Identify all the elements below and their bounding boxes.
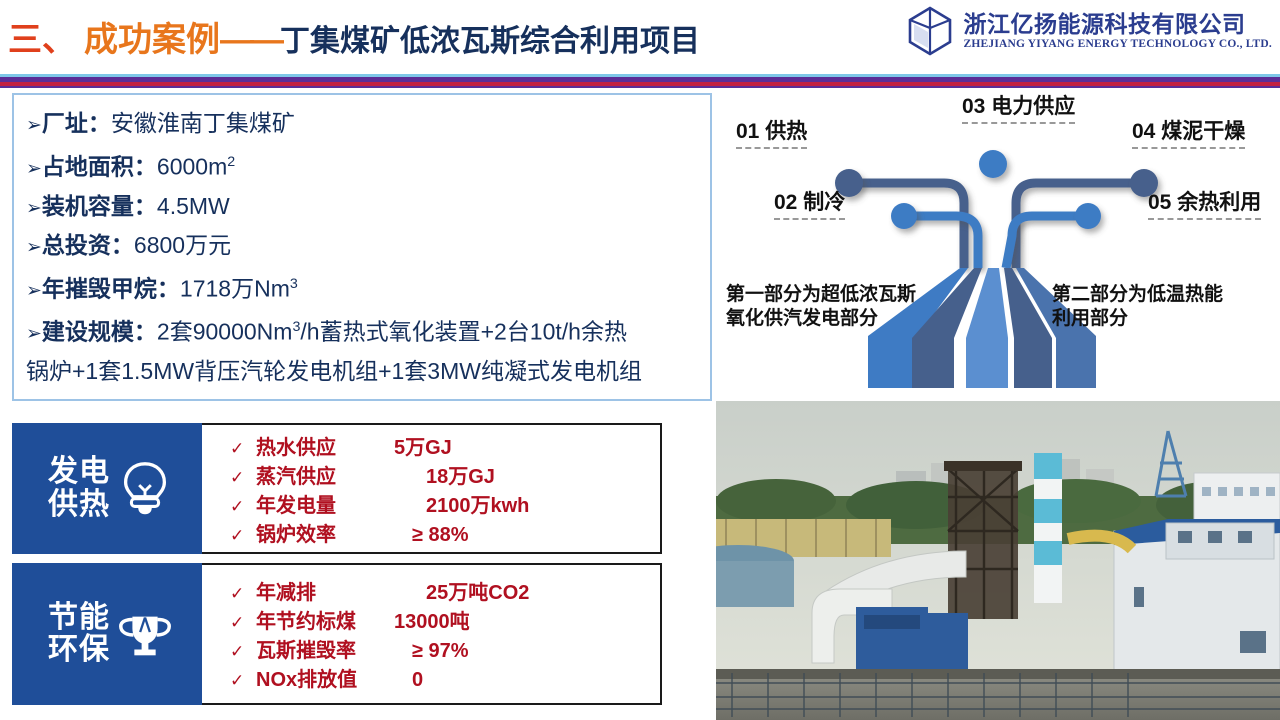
metric-row: ✓ 瓦斯摧毁率 ≥ 97% [230, 637, 660, 666]
diagram-label-03: 03 电力供应 [962, 90, 1075, 124]
card-badge-text: 节能 环保 [48, 602, 110, 667]
plant-photo-graphic [716, 401, 1280, 720]
info-value: 6000m [157, 154, 227, 180]
card-badge-line-2: 供热 [48, 489, 110, 521]
metric-label: 年节约标煤 [256, 608, 394, 637]
diagram-label-02: 02 制冷 [774, 186, 845, 220]
node-dot-05 [1075, 203, 1101, 229]
info-value-superscript: 2 [227, 154, 235, 170]
bullet-arrow-icon: ➢ [26, 159, 42, 180]
card-metrics-list: ✓ 热水供应 5万GJ ✓ 蒸汽供应 18万GJ ✓ 年发电量 2100万kwh… [202, 423, 662, 554]
industrial-plant-photo [716, 401, 1280, 720]
metric-value: 25万吨CO2 [394, 579, 529, 608]
card-power-generation: 发电 供热 ✓ 热水供应 5万GJ ✓ 蒸汽供应 18万GJ ✓ 年发电量 21… [12, 423, 662, 554]
lightbulb-icon [114, 458, 176, 520]
info-label: 厂址： [42, 110, 111, 136]
project-info-box: ➢厂址：安徽淮南丁集煤矿 ➢占地面积：6000m2 ➢装机容量：4.5MW ➢总… [12, 93, 712, 401]
bullet-arrow-icon: ➢ [26, 324, 42, 345]
bullet-arrow-icon: ➢ [26, 198, 42, 219]
card-badge: 节能 环保 [12, 563, 202, 705]
info-row-capacity: ➢装机容量：4.5MW [26, 188, 700, 227]
info-label: 建设规模： [42, 319, 157, 345]
metric-label: 热水供应 [256, 434, 394, 463]
page-title: 三、成功案例——丁集煤矿低浓瓦斯综合利用项目 [8, 12, 700, 61]
info-value: 6800万元 [134, 232, 231, 258]
metric-row: ✓ 年减排 25万吨CO2 [230, 579, 660, 608]
diagram-label-05: 05 余热利用 [1148, 186, 1261, 220]
metric-label: NOx排放值 [256, 666, 394, 695]
metric-value: ≥ 97% [394, 637, 469, 666]
metric-value: 18万GJ [394, 463, 495, 492]
info-value: 1718万Nm [180, 275, 290, 301]
card-badge: 发电 供热 [12, 423, 202, 554]
title-subject: 丁集煤矿低浓瓦斯综合利用项目 [280, 25, 700, 58]
card-badge-text: 发电 供热 [48, 456, 110, 521]
metric-row: ✓ 热水供应 5万GJ [230, 434, 660, 463]
check-icon: ✓ [230, 637, 256, 666]
info-label: 年摧毁甲烷： [42, 275, 180, 301]
info-row-methane: ➢年摧毁甲烷：1718万Nm3 [26, 266, 700, 310]
check-icon: ✓ [230, 666, 256, 695]
metric-label: 蒸汽供应 [256, 463, 394, 492]
metric-value: 5万GJ [394, 434, 452, 463]
card-badge-line-2: 环保 [48, 634, 110, 666]
company-name-cn: 浙江亿扬能源科技有限公司 [963, 12, 1272, 36]
metric-value: ≥ 88% [394, 521, 469, 550]
title-number: 三、 [8, 21, 76, 59]
metric-value: 2100万kwh [394, 492, 529, 521]
diagram-note-right: 第二部分为低温热能 利用部分 [1052, 283, 1223, 331]
metric-label: 锅炉效率 [256, 521, 394, 550]
info-label: 总投资： [42, 232, 134, 258]
node-dot-02 [891, 203, 917, 229]
metric-value: 13000吨 [394, 608, 470, 637]
company-logo: 浙江亿扬能源科技有限公司 ZHEJIANG YIYANG ENERGY TECH… [907, 6, 1272, 56]
metric-value: 0 [394, 666, 423, 695]
title-main: 成功案例 [84, 21, 220, 59]
card-energy-saving: 节能 环保 ✓ 年减排 25万吨CO2 ✓ 年节约标煤 13000吨 ✓ 瓦斯摧… [12, 563, 662, 705]
energy-branch-diagram: 01 供热 02 制冷 03 电力供应 04 煤泥干燥 05 余热利用 第一部分… [716, 88, 1280, 400]
bullet-arrow-icon: ➢ [26, 237, 42, 258]
diagram-label-04: 04 煤泥干燥 [1132, 115, 1245, 149]
check-icon: ✓ [230, 608, 256, 637]
metric-label: 年减排 [256, 579, 394, 608]
card-badge-line-1: 发电 [48, 456, 110, 488]
metric-label: 年发电量 [256, 492, 394, 521]
page-header: 三、成功案例——丁集煤矿低浓瓦斯综合利用项目 浙江亿扬能源科技有限公司 ZHEJ… [0, 0, 1280, 74]
card-metrics-list: ✓ 年减排 25万吨CO2 ✓ 年节约标煤 13000吨 ✓ 瓦斯摧毁率 ≥ 9… [202, 563, 662, 705]
metric-label: 瓦斯摧毁率 [256, 637, 394, 666]
diagram-note-left: 第一部分为超低浓瓦斯 氧化供汽发电部分 [726, 283, 916, 331]
bullet-arrow-icon: ➢ [26, 280, 42, 301]
hexagon-cube-logo-icon [907, 6, 953, 56]
info-label: 占地面积： [42, 154, 157, 180]
info-value-part-b: /h蓄热式氧化装置+2台10t/h余热 [300, 319, 627, 345]
metric-row: ✓ 年节约标煤 13000吨 [230, 608, 660, 637]
card-badge-line-1: 节能 [48, 602, 110, 634]
company-name-en: ZHEJIANG YIYANG ENERGY TECHNOLOGY CO., L… [963, 38, 1272, 50]
check-icon: ✓ [230, 434, 256, 463]
bullet-arrow-icon: ➢ [26, 115, 42, 136]
check-icon: ✓ [230, 579, 256, 608]
metric-row: ✓ 年发电量 2100万kwh [230, 492, 660, 521]
info-row-scale-continued: 锅炉+1套1.5MW背压汽轮发电机组+1套3MW纯凝式发电机组 [26, 353, 700, 390]
info-value-part-a: 2套90000Nm [157, 319, 293, 345]
info-value: 安徽淮南丁集煤矿 [111, 110, 295, 136]
check-icon: ✓ [230, 492, 256, 521]
metric-row: ✓ 蒸汽供应 18万GJ [230, 463, 660, 492]
check-icon: ✓ [230, 463, 256, 492]
info-row-site: ➢厂址：安徽淮南丁集煤矿 [26, 105, 700, 144]
info-row-investment: ➢总投资：6800万元 [26, 227, 700, 266]
info-row-scale: ➢建设规模：2套90000Nm3/h蓄热式氧化装置+2台10t/h余热 [26, 309, 700, 353]
info-row-area: ➢占地面积：6000m2 [26, 144, 700, 188]
header-divider-bar [0, 74, 1280, 88]
metric-row: ✓ NOx排放值 0 [230, 666, 660, 695]
info-label: 装机容量： [42, 193, 157, 219]
company-name-block: 浙江亿扬能源科技有限公司 ZHEJIANG YIYANG ENERGY TECH… [963, 12, 1272, 50]
node-dot-03 [979, 150, 1007, 178]
metric-row: ✓ 锅炉效率 ≥ 88% [230, 521, 660, 550]
trophy-icon [114, 603, 176, 665]
info-value: 4.5MW [157, 193, 230, 219]
title-dash: —— [220, 21, 280, 59]
info-value-superscript: 3 [290, 276, 298, 292]
diagram-label-01: 01 供热 [736, 115, 807, 149]
check-icon: ✓ [230, 521, 256, 550]
